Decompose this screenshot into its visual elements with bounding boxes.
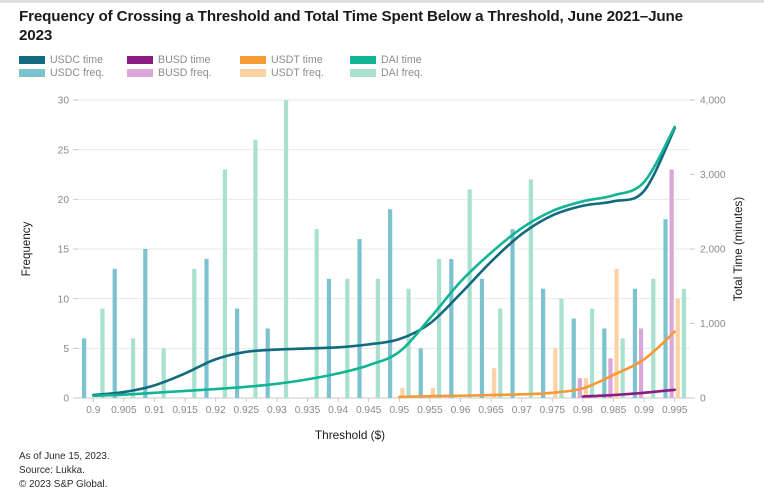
bar-usdcfreq-0.95[interactable] <box>388 209 392 398</box>
bar-usdcfreq-0.98[interactable] <box>572 319 576 398</box>
legend-label-usdt-time: USDT time <box>271 54 323 66</box>
chart-card: Frequency of Crossing a Threshold and To… <box>0 0 764 492</box>
x-tick-label-0.91: 0.91 <box>145 405 165 416</box>
x-tick-label-0.99: 0.99 <box>634 405 654 416</box>
legend-swatch-usdc-time <box>19 56 45 64</box>
footnote-copyright: © 2023 S&P Global. <box>19 478 110 492</box>
page-title: Frequency of Crossing a Threshold and To… <box>19 7 719 45</box>
bar-usdcfreq-0.97[interactable] <box>510 229 514 398</box>
legend-swatch-usdc-freq <box>19 69 45 77</box>
bar-daifreq-0.99[interactable] <box>651 279 655 398</box>
bar-daifreq-0.955[interactable] <box>437 259 441 398</box>
footnote-asof: As of June 15, 2023. <box>19 450 110 464</box>
x-tick-label-0.945: 0.945 <box>356 405 382 416</box>
x-tick-label-0.915: 0.915 <box>172 405 198 416</box>
x-tick-label-0.92: 0.92 <box>206 405 226 416</box>
line-busdtime[interactable] <box>583 390 675 397</box>
x-tick-label-0.935: 0.935 <box>295 405 321 416</box>
x-tick-label-0.9: 0.9 <box>86 405 100 416</box>
top-divider <box>0 0 764 3</box>
bar-usdtfreq-0.975[interactable] <box>553 348 557 398</box>
y2-tick-label-2000: 2,000 <box>700 245 726 256</box>
y-tick-label-15: 15 <box>58 245 70 256</box>
legend-dai-freq[interactable]: DAI freq. <box>350 67 450 79</box>
legend-row-freq: USDC freq. BUSD freq. USDT freq. DAI fre… <box>19 66 749 79</box>
legend-swatch-usdt-time <box>240 56 266 64</box>
legend-label-usdt-freq: USDT freq. <box>271 67 324 79</box>
y2-tick-label-0: 0 <box>700 394 706 405</box>
y2-tick-label-4000: 4,000 <box>700 96 726 107</box>
y-tick-label-10: 10 <box>58 294 70 305</box>
line-daitime[interactable] <box>93 127 674 396</box>
legend-usdt-freq[interactable]: USDT freq. <box>240 67 350 79</box>
x-tick-label-0.95: 0.95 <box>389 405 409 416</box>
x-tick-label-0.94: 0.94 <box>328 405 348 416</box>
bar-usdtfreq-0.985[interactable] <box>614 269 618 398</box>
bar-daifreq-0.985[interactable] <box>621 338 625 398</box>
bar-daifreq-0.935[interactable] <box>315 229 319 398</box>
legend-label-usdc-time: USDC time <box>50 54 103 66</box>
legend-usdt-time[interactable]: USDT time <box>240 54 350 66</box>
legend-swatch-busd-freq <box>127 69 153 77</box>
bar-usdcfreq-0.945[interactable] <box>357 239 361 398</box>
x-tick-label-0.985: 0.985 <box>601 405 627 416</box>
bar-daifreq-0.995[interactable] <box>682 289 686 398</box>
x-tick-label-0.97: 0.97 <box>512 405 532 416</box>
bar-usdcfreq-0.975[interactable] <box>541 289 545 398</box>
x-tick-label-0.98: 0.98 <box>573 405 593 416</box>
bar-busdfreq-0.995[interactable] <box>670 170 674 398</box>
bar-usdtfreq-0.965[interactable] <box>492 368 496 398</box>
bar-daifreq-0.965[interactable] <box>498 309 502 398</box>
line-usdctime[interactable] <box>93 128 674 395</box>
x-tick-label-0.925: 0.925 <box>234 405 260 416</box>
bar-daifreq-0.94[interactable] <box>345 279 349 398</box>
y-tick-label-5: 5 <box>63 344 69 355</box>
x-tick-label-0.955: 0.955 <box>417 405 443 416</box>
x-tick-label-0.975: 0.975 <box>540 405 566 416</box>
y-tick-label-0: 0 <box>63 394 69 405</box>
y2-tick-label-3000: 3,000 <box>700 170 726 181</box>
y-tick-label-25: 25 <box>58 145 70 156</box>
y2-tick-label-1000: 1,000 <box>700 319 726 330</box>
chart-svg[interactable]: 05101520253001,0002,0003,0004,0000.90.90… <box>0 88 764 418</box>
legend-swatch-usdt-freq <box>240 69 266 77</box>
bar-usdcfreq-0.92[interactable] <box>204 259 208 398</box>
bar-usdcfreq-0.94[interactable] <box>327 279 331 398</box>
x-tick-label-0.96: 0.96 <box>451 405 471 416</box>
bar-usdtfreq-0.995[interactable] <box>676 299 680 398</box>
x-tick-label-0.965: 0.965 <box>478 405 504 416</box>
x-axis-title: Threshold ($) <box>0 428 700 442</box>
y2-axis-title: Total Time (minutes) <box>732 197 745 302</box>
bar-usdcfreq-0.995[interactable] <box>663 219 667 398</box>
bar-daifreq-0.93[interactable] <box>284 100 288 398</box>
bar-usdcfreq-0.985[interactable] <box>602 328 606 398</box>
bar-daifreq-0.92[interactable] <box>223 170 227 398</box>
bar-daifreq-0.915[interactable] <box>192 269 196 398</box>
footnote-source: Source: Lukka. <box>19 464 110 478</box>
legend-swatch-busd-time <box>127 56 153 64</box>
legend-label-dai-time: DAI time <box>381 54 422 66</box>
x-tick-label-0.995: 0.995 <box>662 405 688 416</box>
legend-usdc-time[interactable]: USDC time <box>19 54 127 66</box>
y-tick-label-20: 20 <box>58 195 70 206</box>
bar-daifreq-0.975[interactable] <box>559 299 563 398</box>
bar-daifreq-0.945[interactable] <box>376 279 380 398</box>
footnote: As of June 15, 2023. Source: Lukka. © 20… <box>19 450 110 492</box>
legend-label-dai-freq: DAI freq. <box>381 67 423 79</box>
legend-usdc-freq[interactable]: USDC freq. <box>19 67 127 79</box>
bar-usdcfreq-0.93[interactable] <box>266 328 270 398</box>
bar-daifreq-0.9[interactable] <box>100 309 104 398</box>
y-axis-title: Frequency <box>20 221 33 276</box>
x-tick-label-0.93: 0.93 <box>267 405 287 416</box>
chart-legend: USDC time BUSD time USDT time DAI time U… <box>19 53 749 79</box>
bar-usdcfreq-0.96[interactable] <box>449 259 453 398</box>
bar-daifreq-0.97[interactable] <box>529 179 533 398</box>
bar-usdcfreq-0.905[interactable] <box>113 269 117 398</box>
bar-usdcfreq-0.91[interactable] <box>143 249 147 398</box>
bar-daifreq-0.925[interactable] <box>253 140 257 398</box>
bar-usdcfreq-0.955[interactable] <box>419 348 423 398</box>
legend-busd-time[interactable]: BUSD time <box>127 54 240 66</box>
legend-swatch-dai-freq <box>350 69 376 77</box>
bar-daifreq-0.96[interactable] <box>468 189 472 398</box>
plot-area: 05101520253001,0002,0003,0004,0000.90.90… <box>0 88 764 418</box>
legend-busd-freq[interactable]: BUSD freq. <box>127 67 240 79</box>
legend-label-busd-time: BUSD time <box>158 54 210 66</box>
lines-group <box>93 127 674 397</box>
bar-usdcfreq-0.99[interactable] <box>633 289 637 398</box>
bar-daifreq-0.91[interactable] <box>162 348 166 398</box>
legend-swatch-dai-time <box>350 56 376 64</box>
bar-usdcfreq-0.9[interactable] <box>82 338 86 398</box>
legend-row-time: USDC time BUSD time USDT time DAI time <box>19 53 749 66</box>
x-tick-label-0.905: 0.905 <box>111 405 137 416</box>
legend-label-busd-freq: BUSD freq. <box>158 67 212 79</box>
legend-dai-time[interactable]: DAI time <box>350 54 450 66</box>
bar-usdcfreq-0.965[interactable] <box>480 279 484 398</box>
legend-label-usdc-freq: USDC freq. <box>50 67 104 79</box>
y-tick-label-30: 30 <box>58 96 70 107</box>
